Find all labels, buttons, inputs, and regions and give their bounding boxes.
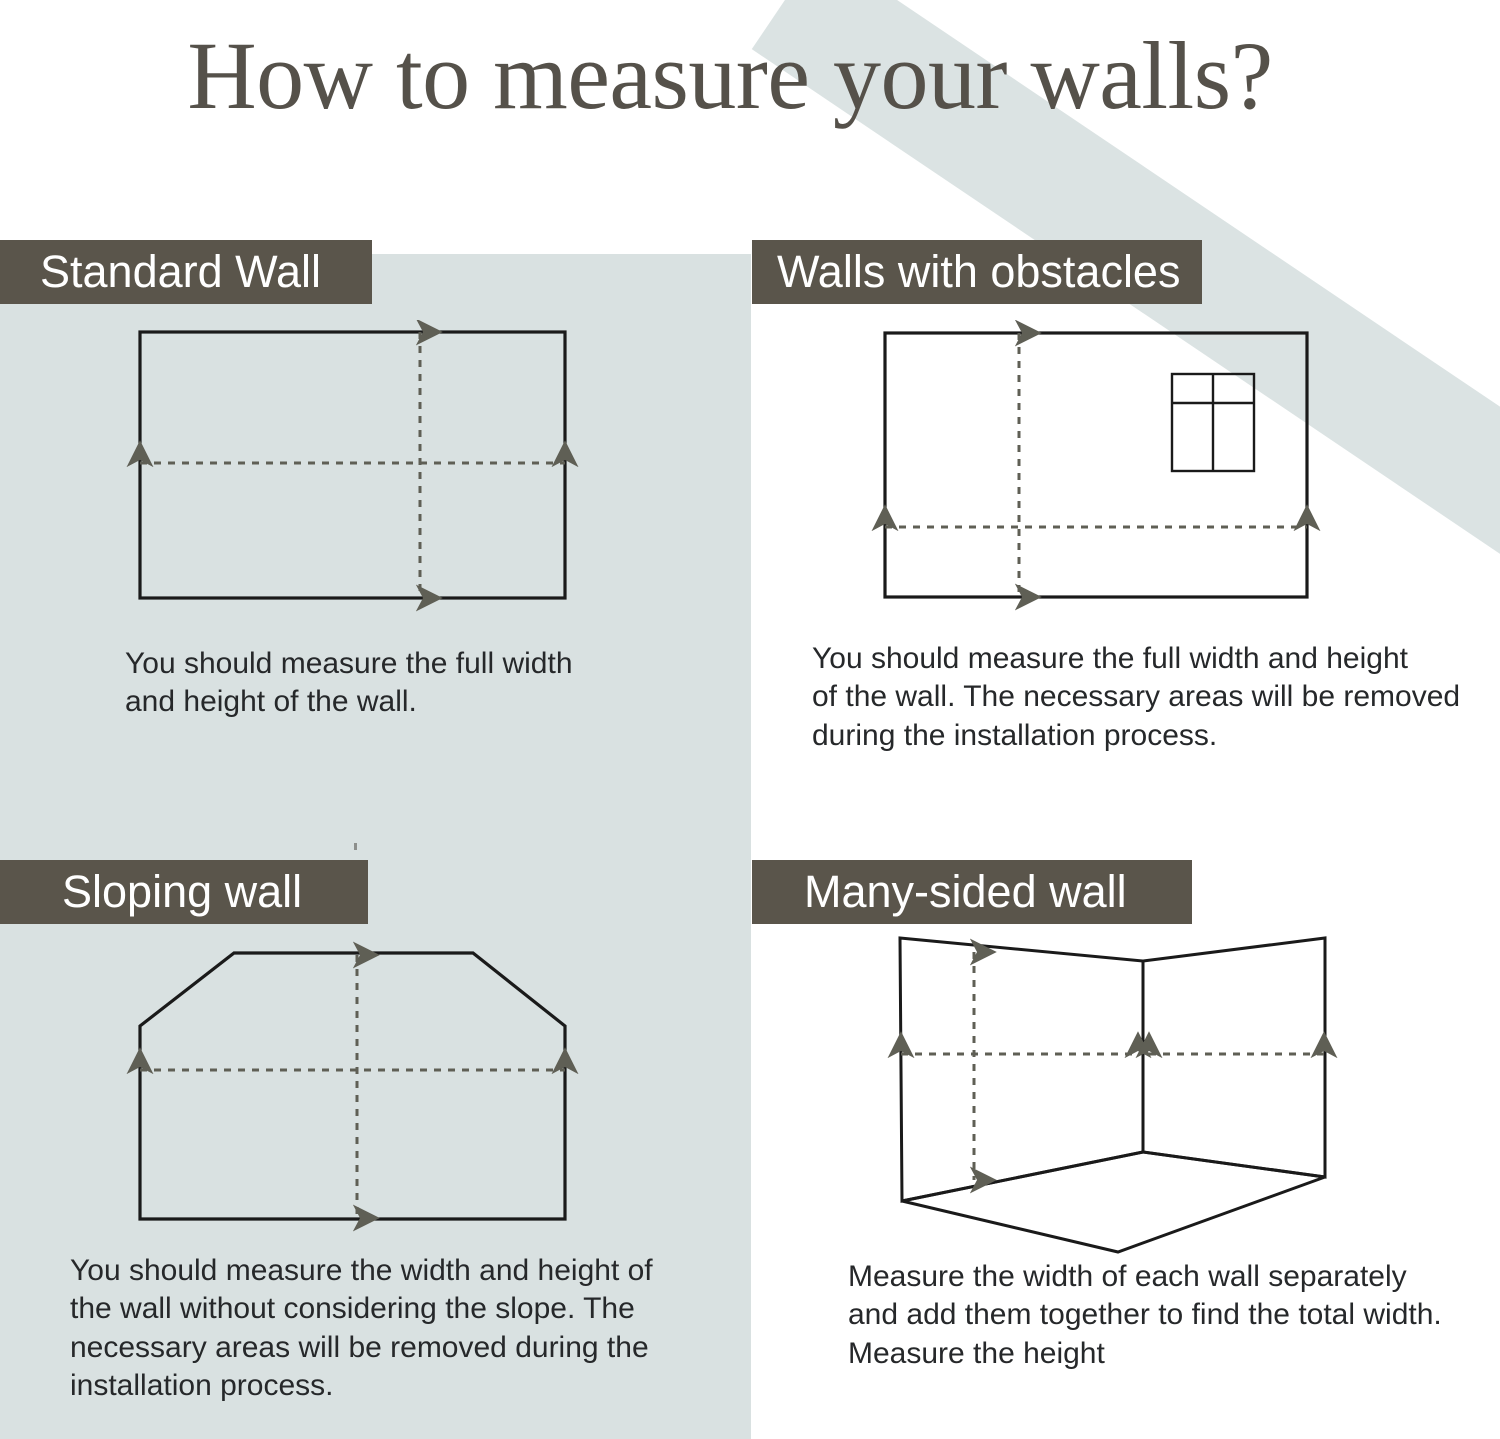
standard-wall-diagram (120, 320, 590, 625)
wall-outline (140, 332, 565, 598)
obstacle-wall-diagram (860, 320, 1340, 625)
wall-outline (885, 333, 1307, 597)
caption-standard-wall: You should measure the full width and he… (125, 645, 645, 722)
floor-outline (902, 1152, 1325, 1252)
right-wall-outline (1143, 938, 1325, 1177)
sloping-wall-diagram (120, 930, 600, 1255)
section-header-label: Walls with obstacles (752, 240, 1180, 304)
caption-sloping-wall: You should measure the width and height … (70, 1252, 690, 1406)
section-header-label: Sloping wall (0, 860, 302, 924)
section-header-label: Many-sided wall (752, 860, 1127, 924)
section-header-walls-with-obstacles: Walls with obstacles (752, 240, 1202, 304)
stray-speck (354, 843, 357, 850)
page-title: How to measure your walls? (0, 26, 1460, 127)
caption-walls-with-obstacles: You should measure the full width and he… (812, 640, 1482, 755)
window-icon (1172, 374, 1254, 471)
section-header-standard-wall: Standard Wall (0, 240, 372, 304)
infographic-page: How to measure your walls? Standard Wall… (0, 0, 1500, 1439)
caption-many-sided-wall: Measure the width of each wall separatel… (848, 1258, 1468, 1373)
section-header-label: Standard Wall (0, 240, 321, 304)
section-header-many-sided-wall: Many-sided wall (752, 860, 1192, 924)
wall-outline (140, 953, 565, 1219)
many-sided-wall-diagram (870, 920, 1360, 1285)
section-header-sloping-wall: Sloping wall (0, 860, 368, 924)
left-wall-outline (900, 938, 1143, 1201)
